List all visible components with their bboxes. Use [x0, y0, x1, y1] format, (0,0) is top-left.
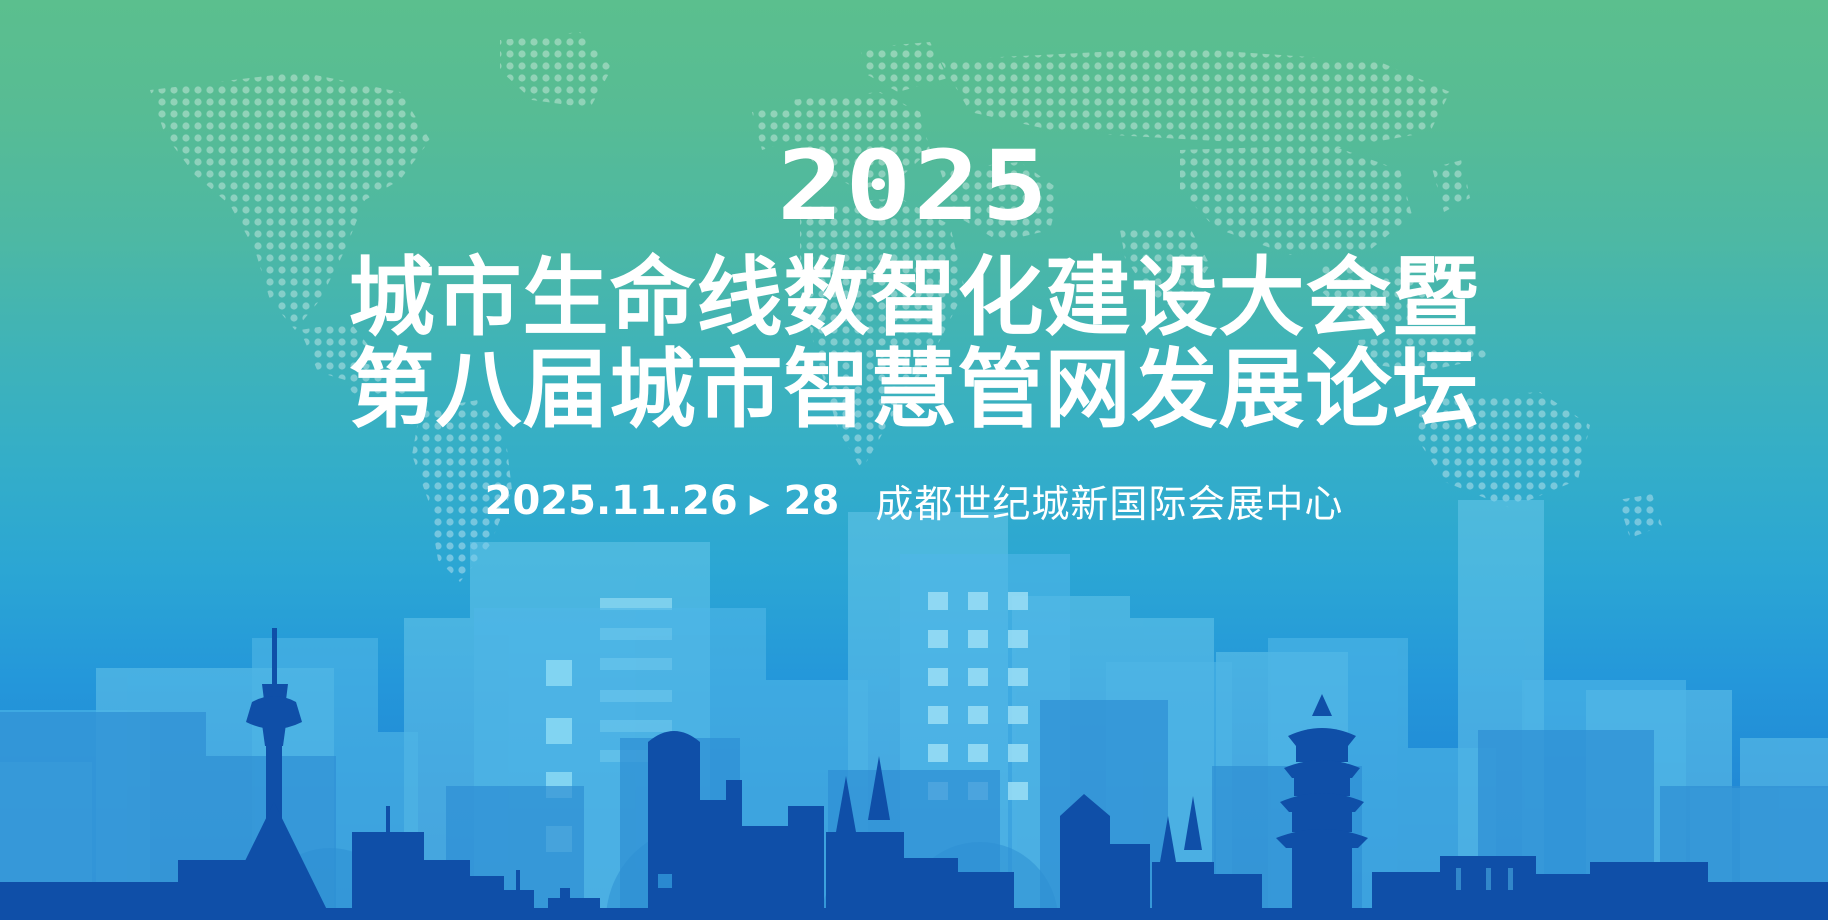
- city-skyline-far-layer: [0, 500, 1828, 920]
- event-venue: 成都世纪城新国际会展中心: [875, 473, 1343, 528]
- event-meta-row: 2025.11.26 ▶ 28 成都世纪城新国际会展中心: [485, 473, 1344, 528]
- world-map-dots-icon: [0, 0, 1828, 620]
- play-arrow-icon: ▶: [750, 490, 770, 516]
- city-skyline-mid-layer: [0, 520, 1828, 920]
- city-skyline-front-layer: [0, 620, 1828, 920]
- conference-title-line-1: 城市生命线数智化建设大会暨: [349, 254, 1480, 343]
- event-date-start: 2025.11.26: [485, 478, 738, 524]
- conference-title-line-2: 第八届城市智慧管网发展论坛: [349, 346, 1480, 435]
- year-heading: 2025: [778, 142, 1051, 230]
- conference-banner: 2025 城市生命线数智化建设大会暨 第八届城市智慧管网发展论坛 2025.11…: [0, 0, 1828, 920]
- event-date-end: 28: [784, 478, 840, 524]
- banner-content: 2025 城市生命线数智化建设大会暨 第八届城市智慧管网发展论坛 2025.11…: [0, 0, 1828, 920]
- city-skyline-near-layer: [0, 580, 1828, 920]
